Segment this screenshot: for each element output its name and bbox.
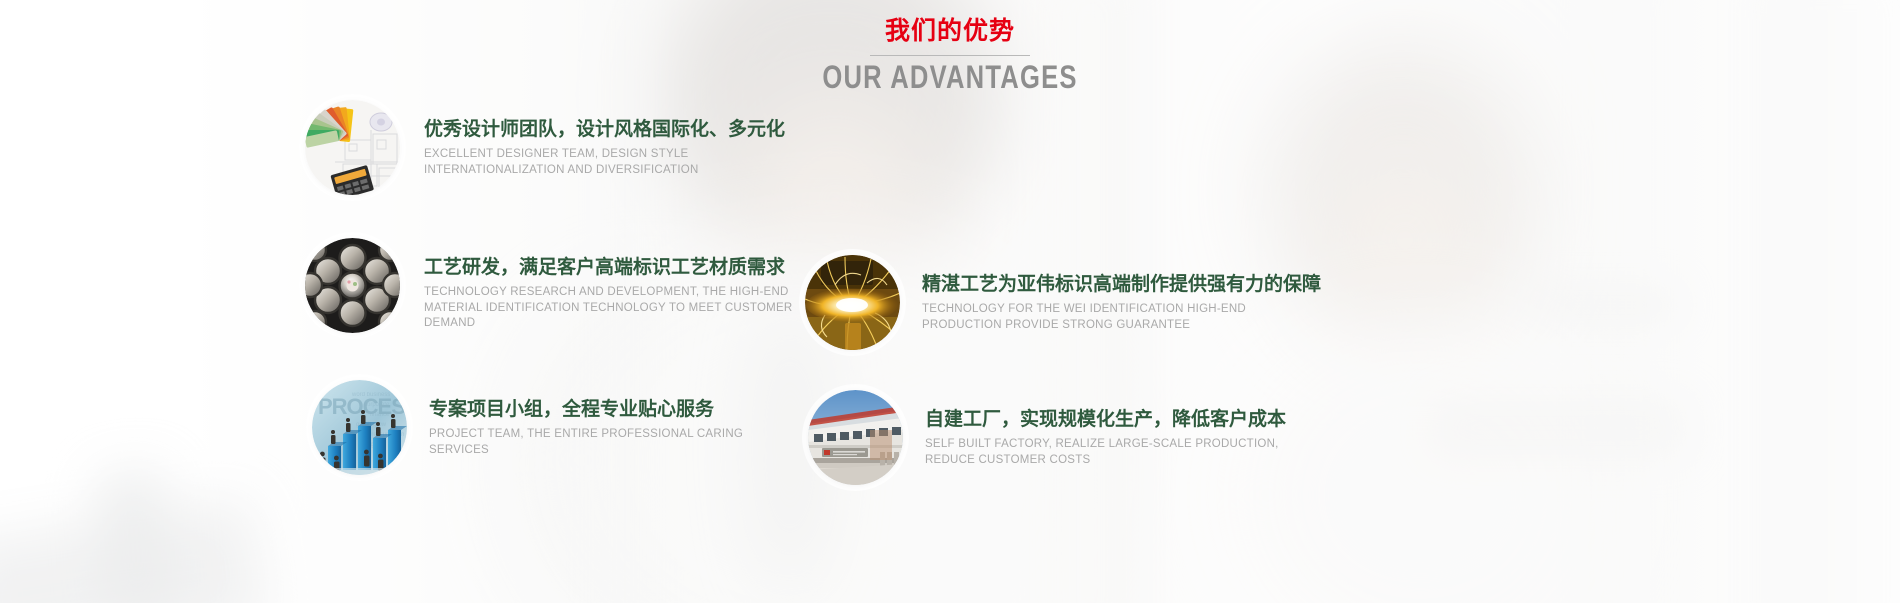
feature-title-cn: 精湛工艺为亚伟标识高端制作提供强有力的保障	[922, 271, 1321, 297]
feature-item[interactable]: 自建工厂，实现规模化生产，降低客户成本 SELF BUILT FACTORY, …	[808, 390, 1286, 485]
color-swatch-fan-blueprint-icon	[305, 100, 400, 195]
metal-tubes-icon	[305, 238, 400, 333]
advantages-section: 我们的优势 OUR ADVANTAGES	[0, 0, 1900, 603]
business-growth-chart-icon: PROCESS word businesscorporate financegr…	[312, 380, 407, 475]
welding-sparks-icon	[805, 255, 900, 350]
feature-item[interactable]: 精湛工艺为亚伟标识高端制作提供强有力的保障 TECHNOLOGY FOR THE…	[805, 255, 1321, 350]
feature-title-cn: 优秀设计师团队，设计风格国际化、多元化	[424, 116, 799, 142]
svg-text:finance: finance	[370, 412, 390, 418]
feature-text: 专案项目小组，全程专业贴心服务 PROJECT TEAM, THE ENTIRE…	[429, 380, 804, 458]
section-title-cn: 我们的优势	[0, 16, 1900, 46]
feature-item[interactable]: 工艺研发，满足客户高端标识工艺材质需求 TECHNOLOGY RESEARCH …	[305, 238, 799, 333]
factory-building-icon	[808, 390, 903, 485]
svg-text:corporate: corporate	[364, 402, 390, 408]
feature-text: 精湛工艺为亚伟标识高端制作提供强有力的保障 TECHNOLOGY FOR THE…	[922, 255, 1321, 333]
heading-divider	[870, 55, 1030, 56]
feature-title-en: PROJECT TEAM, THE ENTIRE PROFESSIONAL CA…	[429, 427, 804, 458]
feature-title-cn: 工艺研发，满足客户高端标识工艺材质需求	[424, 254, 799, 280]
feature-title-cn: 专案项目小组，全程专业贴心服务	[429, 396, 804, 422]
feature-text: 自建工厂，实现规模化生产，降低客户成本 SELF BUILT FACTORY, …	[925, 390, 1286, 468]
feature-title-en: TECHNOLOGY FOR THE WEI IDENTIFICATION HI…	[922, 302, 1282, 333]
feature-item[interactable]: 优秀设计师团队，设计风格国际化、多元化 EXCELLENT DESIGNER T…	[305, 100, 799, 195]
feature-title-en: TECHNOLOGY RESEARCH AND DEVELOPMENT, THE…	[424, 285, 799, 332]
svg-text:word business: word business	[351, 392, 390, 398]
feature-title-en: EXCELLENT DESIGNER TEAM, DESIGN STYLE IN…	[424, 147, 799, 178]
feature-title-en: SELF BUILT FACTORY, REALIZE LARGE-SCALE …	[925, 437, 1285, 468]
feature-text: 优秀设计师团队，设计风格国际化、多元化 EXCELLENT DESIGNER T…	[424, 100, 799, 178]
feature-text: 工艺研发，满足客户高端标识工艺材质需求 TECHNOLOGY RESEARCH …	[424, 238, 799, 332]
section-title-en: OUR ADVANTAGES	[190, 60, 1710, 94]
feature-item[interactable]: PROCESS word businesscorporate financegr…	[312, 380, 804, 475]
section-heading: 我们的优势 OUR ADVANTAGES	[0, 16, 1900, 94]
feature-title-cn: 自建工厂，实现规模化生产，降低客户成本	[925, 406, 1286, 432]
